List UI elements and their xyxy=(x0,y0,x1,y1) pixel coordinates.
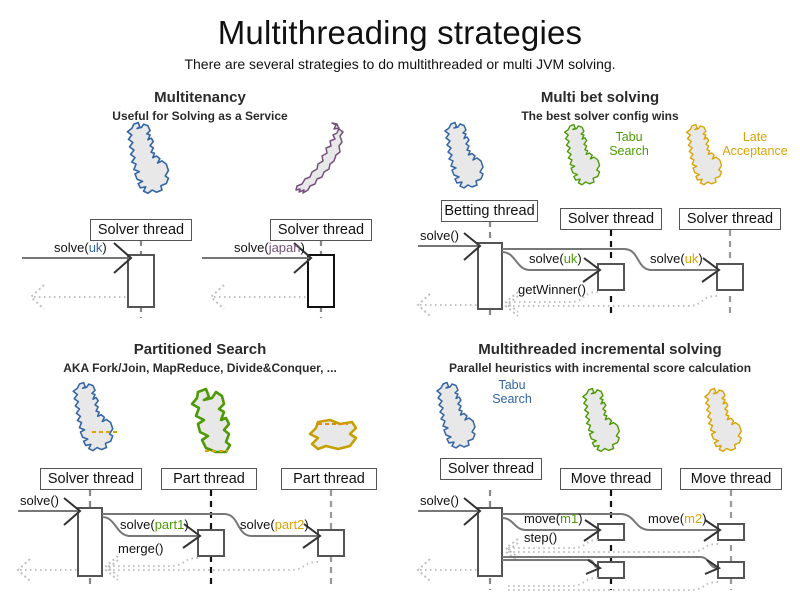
arrow-head xyxy=(31,285,44,309)
quadrant-title-multithreaded-incremental: Multithreaded incremental solving xyxy=(400,341,800,358)
message-label-move-m2: move(m2) xyxy=(648,511,707,526)
message-label-getwinner: getWinner() xyxy=(518,282,586,297)
quadrant-subtitle-partitioned-search: AKA Fork/Join, MapReduce, Divide&Conquer… xyxy=(0,361,400,375)
arrow-head xyxy=(18,559,30,581)
msg-arg: m1 xyxy=(560,511,578,526)
activation-bar xyxy=(598,562,624,578)
lifeline-box-betting-thread[interactable]: Betting thread xyxy=(441,200,538,222)
arrow-head xyxy=(506,292,518,312)
map-uk-gold-incremental xyxy=(705,388,741,451)
lifeline-box-solver-thread[interactable]: Solver thread xyxy=(270,219,372,241)
activation-bar xyxy=(318,530,344,556)
quadrant-subtitle-multitenancy: Useful for Solving as a Service xyxy=(0,109,400,123)
arrow-head xyxy=(418,559,430,581)
arrow-head xyxy=(705,560,719,574)
msg-arg: uk xyxy=(564,251,578,266)
lifeline-box-move-thread[interactable]: Move thread xyxy=(680,468,782,490)
quadrant-subtitle-multithreaded-incremental: Parallel heuristics with incremental sco… xyxy=(400,361,800,375)
lifeline-box-move-thread[interactable]: Move thread xyxy=(560,468,662,490)
msg-text: solve( xyxy=(54,240,89,255)
map-label-line1: Late xyxy=(712,130,798,144)
return-arrow-line xyxy=(108,558,198,566)
map-uk-part1-green xyxy=(192,389,230,452)
lifeline-box-part-thread[interactable]: Part thread xyxy=(281,468,377,490)
msg-close: ) xyxy=(578,511,582,526)
message-label-solve-part2: solve(part2) xyxy=(240,517,309,532)
msg-close: ) xyxy=(184,517,188,532)
activation-bar xyxy=(598,524,624,540)
map-uk-blue-incremental xyxy=(437,383,475,449)
msg-text: solve( xyxy=(120,517,155,532)
map-uk-green-incremental xyxy=(583,388,619,451)
map-uk-blue-bet xyxy=(445,123,483,189)
arrow-head xyxy=(506,543,518,561)
map-uk-multitenancy xyxy=(127,123,168,194)
activation-bar xyxy=(598,264,624,290)
lifeline-box-part-thread[interactable]: Part thread xyxy=(161,468,257,490)
msg-close: ) xyxy=(304,517,308,532)
quadrant-title-partitioned-search: Partitioned Search xyxy=(0,341,400,358)
map-label-late-acceptance: LateAcceptance xyxy=(712,130,798,159)
msg-close: ) xyxy=(577,251,581,266)
map-japan-multitenancy xyxy=(296,123,343,193)
msg-close: ) xyxy=(301,240,305,255)
msg-text: solve( xyxy=(234,240,269,255)
message-label-solve-japan: solve(japan) xyxy=(234,240,305,255)
lifeline-box-solver-thread[interactable]: Solver thread xyxy=(40,468,142,490)
quadrant-title-multitenancy: Multitenancy xyxy=(0,89,400,106)
arrow-head xyxy=(106,560,118,580)
activation-bar xyxy=(718,524,744,540)
message-label-move-m1: move(m1) xyxy=(524,511,583,526)
map-label-line1: Tabu xyxy=(596,130,662,144)
activation-bar xyxy=(308,255,334,307)
msg-arg: uk xyxy=(89,240,103,255)
activation-bar xyxy=(128,255,154,307)
msg-arg: part1 xyxy=(155,517,185,532)
message-label-solve: solve() xyxy=(20,493,59,508)
message-label-solve-uk-green: solve(uk) xyxy=(529,251,582,266)
activation-bar xyxy=(718,562,744,578)
slide-canvas: Multithreading strategies There are seve… xyxy=(0,0,800,600)
activation-bar xyxy=(78,508,102,576)
arrow-head xyxy=(418,294,430,316)
msg-text: solve( xyxy=(240,517,275,532)
lifeline-box-solver-thread[interactable]: Solver thread xyxy=(440,458,542,480)
quadrant-subtitle-multi-bet-solving: The best solver config wins xyxy=(400,109,800,123)
message-label-solve-uk-gold: solve(uk) xyxy=(650,251,703,266)
lifeline-box-solver-thread[interactable]: Solver thread xyxy=(560,208,662,230)
map-label-line2: Acceptance xyxy=(712,144,798,158)
activation-bar xyxy=(478,243,502,309)
msg-close: ) xyxy=(702,511,706,526)
message-label-solve: solve() xyxy=(420,228,459,243)
activation-bar xyxy=(198,530,224,556)
message-label-solve-part1: solve(part1) xyxy=(120,517,189,532)
msg-close: ) xyxy=(698,251,702,266)
quadrant-title-multi-bet-solving: Multi bet solving xyxy=(400,89,800,106)
lifeline-box-solver-thread[interactable]: Solver thread xyxy=(679,208,781,230)
return-arrow-line xyxy=(508,578,598,586)
map-uk-blue-partitioned xyxy=(73,383,118,451)
map-label-line2: Search xyxy=(479,392,545,406)
map-label-line1: Tabu xyxy=(479,378,545,392)
map-label-tabu-search: TabuSearch xyxy=(596,130,662,159)
msg-arg: part2 xyxy=(275,517,305,532)
map-uk-green-bet xyxy=(565,124,600,184)
arrow-head xyxy=(506,296,518,316)
msg-text: move( xyxy=(648,511,684,526)
message-label-solve-uk: solve(uk) xyxy=(54,240,107,255)
msg-arg: japan xyxy=(269,240,301,255)
message-label-step: step() xyxy=(524,530,557,545)
lifeline-box-solver-thread[interactable]: Solver thread xyxy=(90,219,192,241)
map-uk-part2-gold xyxy=(310,420,356,449)
activation-bar xyxy=(717,264,743,290)
arrow-head xyxy=(211,285,224,309)
message-label-merge: merge() xyxy=(118,541,164,556)
activation-bar xyxy=(478,508,502,576)
map-label-tabu-search: TabuSearch xyxy=(479,378,545,407)
msg-text: move( xyxy=(524,511,560,526)
msg-arg: m2 xyxy=(684,511,702,526)
msg-arg: uk xyxy=(685,251,699,266)
arrow-head xyxy=(506,539,518,557)
msg-text: solve( xyxy=(650,251,685,266)
arrow-head xyxy=(106,556,118,576)
call-arrow-line xyxy=(502,560,600,568)
msg-close: ) xyxy=(102,240,106,255)
message-label-solve: solve() xyxy=(420,493,459,508)
msg-text: solve( xyxy=(529,251,564,266)
map-label-line2: Search xyxy=(596,144,662,158)
